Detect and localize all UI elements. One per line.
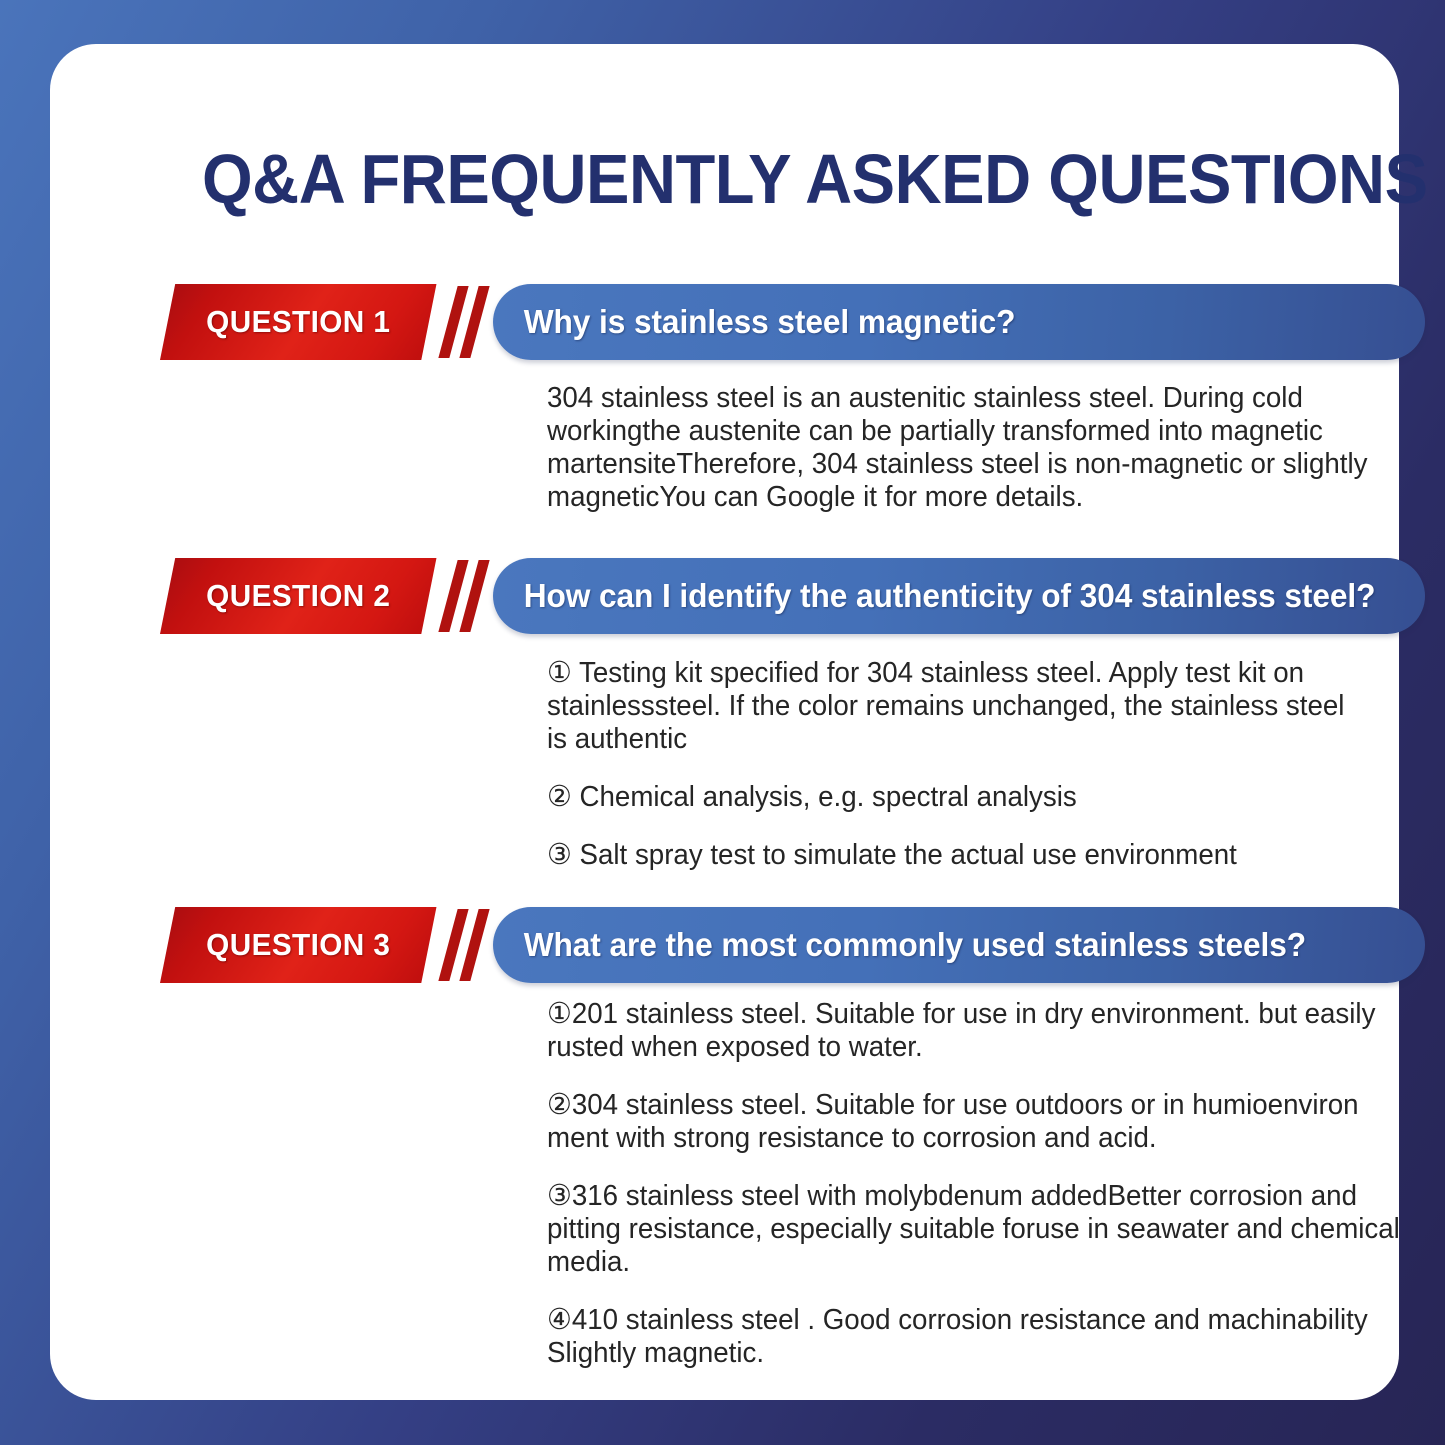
- faq-card: Q&A FREQUENTLY ASKED QUESTIONS QUESTION …: [50, 44, 1399, 1400]
- answer-paragraph: ④410 stainless steel . Good corrosion re…: [547, 1304, 1416, 1370]
- question-heading-text-1: Why is stainless steel magnetic?: [493, 303, 1038, 341]
- question-tag-1: QUESTION 1: [160, 284, 436, 360]
- question-heading-pill-1[interactable]: Why is stainless steel magnetic?: [493, 284, 1425, 360]
- question-heading-text-3: What are the most commonly used stainles…: [493, 926, 1329, 964]
- answer-paragraph: ② Chemical analysis, e.g. spectral analy…: [547, 781, 1359, 814]
- answer-paragraph: ③316 stainless steel with molybdenum add…: [547, 1180, 1416, 1279]
- question-tag-3: QUESTION 3: [160, 907, 436, 983]
- question-row-2: QUESTION 2 How can I identify the authen…: [50, 558, 1399, 634]
- answer-paragraph: 304 stainless steel is an austenitic sta…: [547, 382, 1416, 514]
- answer-paragraph: ① Testing kit specified for 304 stainles…: [547, 657, 1359, 756]
- question-tag-2: QUESTION 2: [160, 558, 436, 634]
- answer-body-2: ① Testing kit specified for 304 stainles…: [547, 657, 1359, 872]
- question-row-3: QUESTION 3 What are the most commonly us…: [50, 907, 1399, 983]
- question-row-1: QUESTION 1 Why is stainless steel magnet…: [50, 284, 1399, 360]
- question-heading-text-2: How can I identify the authenticity of 3…: [493, 577, 1398, 615]
- answer-body-1: 304 stainless steel is an austenitic sta…: [547, 382, 1416, 514]
- answer-paragraph: ①201 stainless steel. Suitable for use i…: [547, 998, 1416, 1064]
- question-heading-pill-2[interactable]: How can I identify the authenticity of 3…: [493, 558, 1425, 634]
- answer-paragraph: ②304 stainless steel. Suitable for use o…: [547, 1089, 1416, 1155]
- answer-paragraph: ③ Salt spray test to simulate the actual…: [547, 839, 1359, 872]
- answer-body-3: ①201 stainless steel. Suitable for use i…: [547, 998, 1416, 1370]
- page-title: Q&A FREQUENTLY ASKED QUESTIONS: [202, 144, 1281, 214]
- question-heading-pill-3[interactable]: What are the most commonly used stainles…: [493, 907, 1425, 983]
